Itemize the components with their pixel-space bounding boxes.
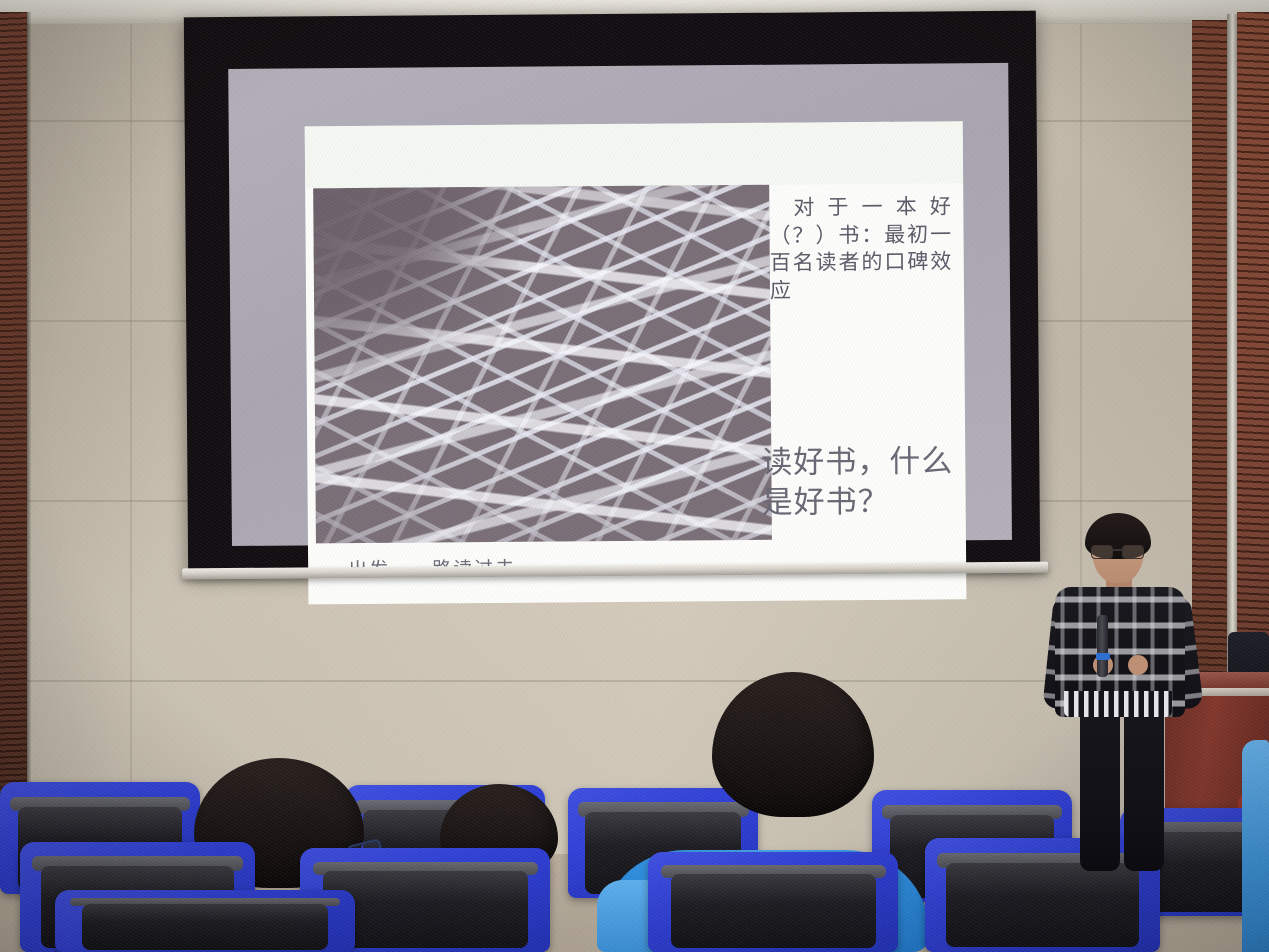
wood-panel-left <box>0 12 27 812</box>
seat <box>55 890 355 952</box>
projection-screen: 对于一本好（？）书：最初一百名读者的口碑效应 读好书，什么是好书？ 出发，一路读… <box>184 11 1040 574</box>
slide-photo-roots <box>313 185 772 544</box>
photo-shadow <box>313 187 520 384</box>
presenter-hand-right <box>1128 655 1148 675</box>
lecture-hall-photo: 对于一本好（？）书：最初一百名读者的口碑效应 读好书，什么是好书？ 出发，一路读… <box>0 0 1269 952</box>
microphone-band <box>1096 653 1110 660</box>
slide-body-text: 对于一本好（？）书：最初一百名读者的口碑效应 <box>769 193 952 305</box>
audience-jacket-right-edge <box>1242 740 1269 952</box>
slide-header-band <box>305 121 963 188</box>
presenter-sweater-hem <box>1064 691 1172 717</box>
presentation-slide: 对于一本好（？）书：最初一百名读者的口碑效应 读好书，什么是好书？ 出发，一路读… <box>305 121 967 604</box>
presenter-legs <box>1076 711 1168 871</box>
wood-panel-left-edge <box>27 12 31 812</box>
microphone-icon <box>1097 615 1108 677</box>
slide-headline: 读好书，什么是好书？ <box>761 441 958 522</box>
screen-surface: 对于一本好（？）书：最初一百名读者的口碑效应 读好书，什么是好书？ 出发，一路读… <box>228 63 1012 546</box>
seat <box>648 852 898 952</box>
wall-seam-vertical <box>130 24 132 854</box>
glasses-icon <box>1089 545 1147 557</box>
